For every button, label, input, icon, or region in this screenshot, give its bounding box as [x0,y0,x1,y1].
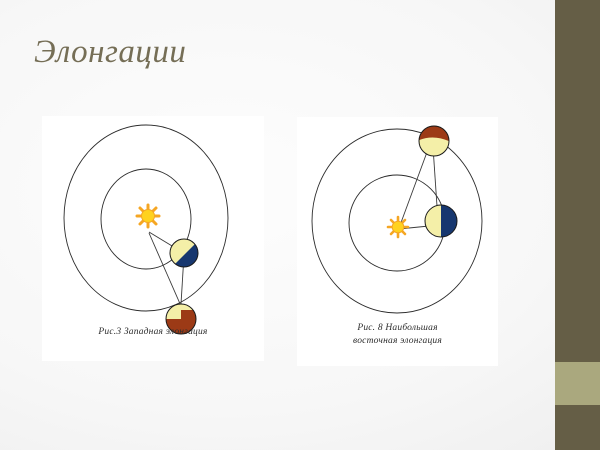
slide-title: Элонгации [34,34,186,71]
earth-body [417,124,453,160]
caption-line: восточная элонгация [297,335,498,348]
caption-line: Рис. 8 Наибольшая [297,322,498,335]
inner-planet-body [423,203,461,241]
sun-icon [388,217,408,237]
caption-line: Рис.3 Западная элонгация [42,326,264,339]
figure-panel-east: Рис. 8 Наибольшая восточная элонгация [297,117,498,366]
accent-bar-bottom [555,405,600,450]
accent-bar-middle [555,362,600,405]
slide-canvas: Элонгации [0,0,600,450]
inner-planet-body [168,237,202,271]
figure-caption-west: Рис.3 Западная элонгация [42,326,264,339]
accent-bar-top [555,0,600,362]
sight-line-sun-earth [399,144,430,228]
diagram-west-elongation [42,116,264,361]
figure-panel-west: Рис.3 Западная элонгация [42,116,264,361]
figure-caption-east: Рис. 8 Наибольшая восточная элонгация [297,322,498,348]
sun-icon [137,205,159,227]
